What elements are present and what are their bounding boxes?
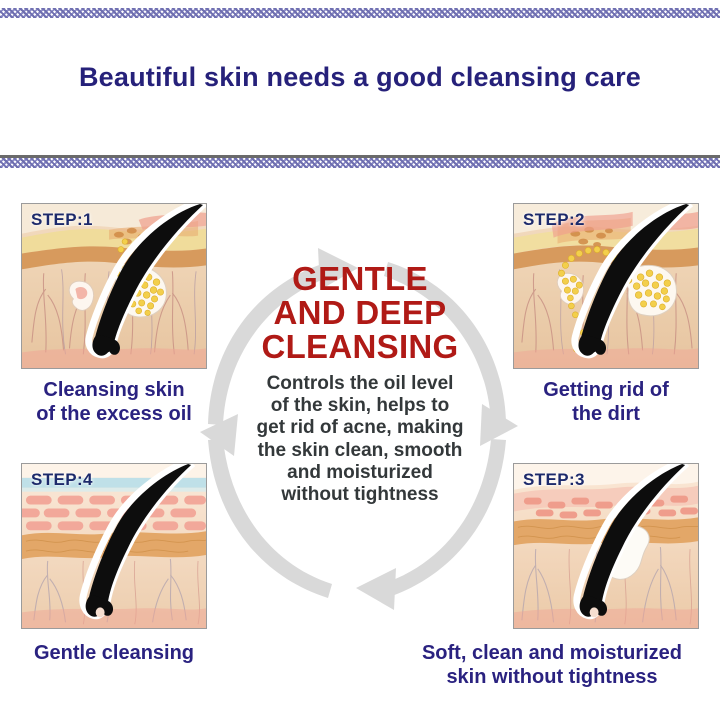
center-description-line-2: of the skin, helps to [200, 395, 520, 417]
center-description-line-5: and moisturized [200, 462, 520, 484]
step-3-tag: STEP:3 [523, 470, 585, 490]
center-description-line-3: get rid of acne, making [200, 417, 520, 439]
step-panel-4[interactable]: STEP:4 [21, 463, 207, 629]
step-2-caption-line-1: Getting rid of [492, 379, 720, 403]
header-top-pattern-bar [0, 8, 720, 18]
step-panel-2[interactable]: STEP:2 [513, 203, 699, 369]
center-description: Controls the oil level of the skin, help… [200, 373, 520, 506]
step-3-caption: Soft, clean and moisturized skin without… [384, 642, 720, 689]
center-description-line-4: the skin clean, smooth [200, 440, 520, 462]
page-title: Beautiful skin needs a good cleansing ca… [0, 62, 720, 93]
step-2-tag: STEP:2 [523, 210, 585, 230]
step-3-caption-line-2: skin without tightness [384, 666, 720, 690]
step-panel-3[interactable]: STEP:3 [513, 463, 699, 629]
step-1-caption: Cleansing skin of the excess oil [0, 379, 228, 426]
step-1-caption-line-1: Cleansing skin [0, 379, 228, 403]
step-1-tag: STEP:1 [31, 210, 93, 230]
step-4-caption-line-1: Gentle cleansing [0, 642, 228, 666]
infographic-page: Beautiful skin needs a good cleansing ca… [0, 0, 720, 720]
step-2-caption-line-2: the dirt [492, 403, 720, 427]
center-description-line-1: Controls the oil level [200, 373, 520, 395]
center-title: GENTLE AND DEEP CLEANSING [200, 262, 520, 364]
center-description-line-6: without tightness [200, 484, 520, 506]
step-2-caption: Getting rid of the dirt [492, 379, 720, 426]
header-bottom-pattern-bar [0, 158, 720, 168]
step-4-caption: Gentle cleansing [0, 642, 228, 666]
center-title-line-2: AND DEEP [200, 296, 520, 330]
center-text-block: GENTLE AND DEEP CLEANSING Controls the o… [200, 262, 520, 506]
step-panel-1[interactable]: STEP:1 [21, 203, 207, 369]
step-1-caption-line-2: of the excess oil [0, 403, 228, 427]
step-3-caption-line-1: Soft, clean and moisturized [384, 642, 720, 666]
center-title-line-1: GENTLE [200, 262, 520, 296]
center-title-line-3: CLEANSING [200, 330, 520, 364]
step-4-tag: STEP:4 [31, 470, 93, 490]
